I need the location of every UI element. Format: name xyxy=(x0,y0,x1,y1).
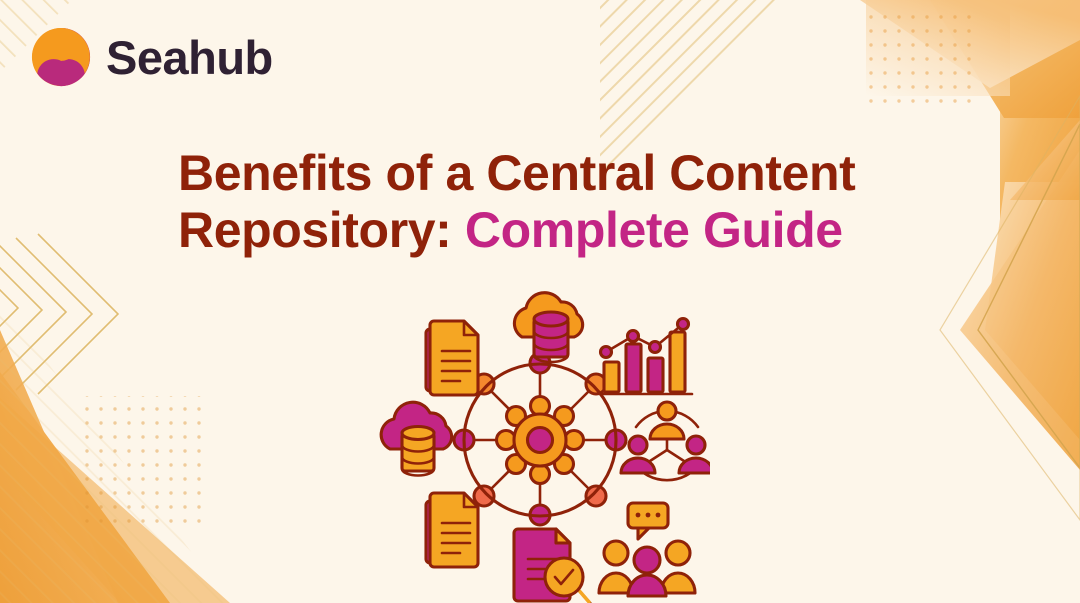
top-right-dot-grid xyxy=(860,10,980,106)
bottom-left-orange-triangle xyxy=(0,330,230,603)
cloud-database-orange-icon xyxy=(514,293,582,362)
documents-orange-bottom-left-icon xyxy=(426,493,478,567)
title-line-2: Repository: Complete Guide xyxy=(178,202,938,259)
person-left xyxy=(599,541,633,593)
database-cylinder xyxy=(402,427,434,476)
title-line-2-accent: Complete Guide xyxy=(465,202,843,258)
poster-canvas: Seahub Benefits of a Central Content Rep… xyxy=(0,0,1080,603)
person-top xyxy=(650,402,684,439)
seahub-logo-icon xyxy=(30,26,92,88)
hub-illustration-svg: .ol { stroke:#8f2209; stroke-width:3.1; … xyxy=(370,275,710,603)
page-title: Benefits of a Central Content Repository… xyxy=(178,145,938,259)
title-line-1: Benefits of a Central Content xyxy=(178,145,938,202)
person-right xyxy=(679,436,710,473)
person-center xyxy=(628,547,666,596)
collaboration-group-icon xyxy=(599,503,695,596)
bottom-left-diagonal-hatch xyxy=(0,290,250,603)
database-cylinder xyxy=(534,312,568,362)
bar-chart-analytics-icon xyxy=(600,319,692,395)
hub-illustration: .ol { stroke:#8f2209; stroke-width:3.1; … xyxy=(370,275,710,603)
speech-bubble xyxy=(628,503,668,539)
brand-logo[interactable]: Seahub xyxy=(30,26,273,88)
document-review-magnifier-icon xyxy=(514,529,590,603)
team-org-chart-icon xyxy=(621,402,710,480)
cloud-database-magenta-icon xyxy=(381,402,452,475)
right-orange-chevron-arrow xyxy=(940,96,1080,520)
documents-orange-top-left-icon xyxy=(426,321,478,395)
hub-core-center xyxy=(528,428,553,453)
bottom-left-dot-grid xyxy=(82,396,204,526)
person-right xyxy=(661,541,695,593)
title-line-2-main: Repository: xyxy=(178,202,465,258)
brand-wordmark: Seahub xyxy=(106,34,273,81)
left-chevron-outlines xyxy=(0,234,118,394)
